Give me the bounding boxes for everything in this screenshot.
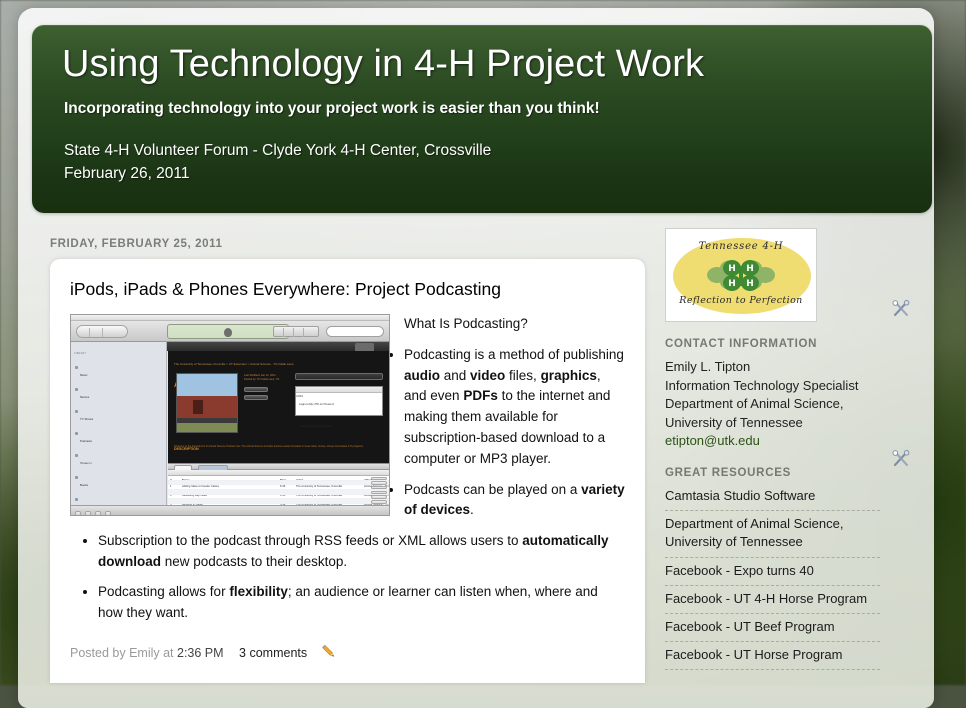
logo-top-text: Tennessee 4-H xyxy=(666,241,816,252)
itunes-sidebar-item[interactable]: Podcasts xyxy=(71,431,166,453)
post-title[interactable]: iPods, iPads & Phones Everywhere: Projec… xyxy=(70,279,625,300)
itunes-get-button[interactable] xyxy=(371,481,387,485)
itunes-sort-select[interactable] xyxy=(295,373,383,380)
blog-header: Using Technology in 4-H Project Work Inc… xyxy=(32,25,932,213)
itunes-search-input[interactable] xyxy=(326,326,384,337)
itunes-sidebar-item[interactable]: TV Shows xyxy=(71,409,166,431)
list-item: Subscription to the podcast through RSS … xyxy=(98,531,625,573)
text-run: new podcasts to their desktop. xyxy=(161,554,347,569)
resource-link[interactable]: Facebook - Expo turns 40 xyxy=(665,558,880,586)
svg-text:H: H xyxy=(746,279,754,289)
text-run: Podcasts can be played on a xyxy=(404,482,581,497)
resource-link[interactable]: Department of Animal Science, University… xyxy=(665,511,880,557)
contact-role: Information Technology Specialist xyxy=(665,377,880,396)
itunes-screenshot-render: FileEditViewControlsStoreAdvancedHelpiTu… xyxy=(70,314,390,516)
itunes-get-button[interactable] xyxy=(371,477,387,481)
contact-widget-title: CONTACT INFORMATION xyxy=(665,338,880,350)
itunes-source-sidebar: LIBRARYMusicMoviesTV ShowsPodcastsiTunes… xyxy=(71,342,167,505)
four-leaf-clover-icon: HH HH xyxy=(705,252,777,298)
bold-run: graphics xyxy=(541,368,597,383)
text-run: Podcasting is a method of publishing xyxy=(404,347,624,362)
contact-organization: University of Tennessee xyxy=(665,414,880,433)
itunes-meta-line-2: Posted by: TN Cattle Lane, TN xyxy=(244,378,279,382)
bold-run: flexibility xyxy=(229,584,288,599)
text-run: . xyxy=(470,502,474,517)
itunes-view-switcher xyxy=(273,326,319,337)
itunes-secondary-button[interactable] xyxy=(244,395,268,400)
post-body: FileEditViewControlsStoreAdvancedHelpiTu… xyxy=(70,314,625,683)
wrench-screwdriver-icon[interactable] xyxy=(890,448,912,470)
blog-subheading: State 4-H Volunteer Forum - Clyde York 4… xyxy=(64,139,844,185)
itunes-toolbar xyxy=(71,321,389,342)
itunes-track-list: #NameTimeArtistAlbumPrice 1Adding Value … xyxy=(168,470,389,505)
text-run: Subscription to the podcast through RSS … xyxy=(98,533,522,548)
svg-text:H: H xyxy=(728,264,736,274)
itunes-subscribe-button[interactable] xyxy=(244,387,268,392)
contact-name: Emily L. Tipton xyxy=(665,358,880,377)
post-comments-link[interactable]: 3 comments xyxy=(239,646,307,660)
itunes-sidebar-item[interactable]: Books xyxy=(71,475,166,497)
itunes-screenshot-image[interactable]: FileEditViewControlsStoreAdvancedHelpiTu… xyxy=(70,314,390,516)
post-footer: Posted by Emily at 2:36 PM 3 comments xyxy=(70,632,625,683)
logo-bottom-text: Reflection to Perfection xyxy=(666,295,816,306)
resource-link[interactable]: Camtasia Studio Software xyxy=(665,487,880,511)
itunes-content-pane: The University of Tennessee, Knoxville >… xyxy=(168,351,389,505)
blog-post: iPods, iPads & Phones Everywhere: Projec… xyxy=(50,259,645,683)
itunes-description-title: DESCRIPTION xyxy=(174,439,199,460)
text-run: files, xyxy=(505,368,540,383)
contact-email-link[interactable]: etipton@utk.edu xyxy=(665,433,760,448)
resource-link[interactable]: Facebook - UT Beef Program xyxy=(665,614,880,642)
itunes-links-panel: LINKS Login to My UTK on iTunes U Animal… xyxy=(295,386,383,416)
itunes-status-display xyxy=(167,324,289,339)
resource-link[interactable]: Facebook - UT Horse Program xyxy=(665,642,880,670)
itunes-get-button[interactable] xyxy=(371,500,387,504)
bold-run: audio xyxy=(404,368,440,383)
bold-run: video xyxy=(470,368,505,383)
svg-text:H: H xyxy=(728,279,736,289)
resource-link[interactable]: Facebook - UT 4-H Horse Program xyxy=(665,586,880,614)
post-timestamp[interactable]: 2:36 PM xyxy=(177,646,224,660)
itunes-links-item[interactable]: Animal Science Department xyxy=(296,415,382,437)
itunes-sidebar-item[interactable]: Movies xyxy=(71,387,166,409)
text-run: Podcasting allows for xyxy=(98,584,229,599)
itunes-sidebar-section: LIBRARY xyxy=(71,342,166,365)
sidebar: Tennessee 4-H HH HH Reflection to Perfec… xyxy=(665,228,880,670)
itunes-transport-buttons xyxy=(76,325,128,338)
itunes-meta: Last Modified: Jan 12, 2011 Posted by: T… xyxy=(244,374,279,381)
text-run: and xyxy=(440,368,470,383)
resources-list: Camtasia Studio SoftwareDepartment of An… xyxy=(665,487,880,670)
itunes-status-bar xyxy=(71,505,389,515)
itunes-sidebar-item[interactable]: iTunes U xyxy=(71,453,166,475)
contact-department: Department of Animal Science, xyxy=(665,395,880,414)
contact-widget-body: Emily L. Tipton Information Technology S… xyxy=(665,358,880,451)
post-main-bullets: Subscription to the podcast through RSS … xyxy=(70,531,625,623)
apple-logo-icon xyxy=(224,328,232,337)
itunes-tab-bar[interactable]: PublicTN Cattle Lane xyxy=(168,463,389,470)
itunes-get-button[interactable] xyxy=(371,495,387,499)
tennessee-4h-logo[interactable]: Tennessee 4-H HH HH Reflection to Perfec… xyxy=(665,228,817,322)
pencil-icon[interactable] xyxy=(320,643,337,667)
itunes-sidebar-item[interactable]: Music xyxy=(71,365,166,387)
blog-description: Incorporating technology into your proje… xyxy=(64,100,844,118)
itunes-get-button[interactable] xyxy=(371,486,387,490)
main-content: FRIDAY, FEBRUARY 25, 2011 iPods, iPads &… xyxy=(50,238,645,683)
itunes-links-item[interactable]: Login to My UTK on iTunes U xyxy=(296,393,382,415)
bold-run: PDFs xyxy=(463,388,498,403)
post-author-label: Posted by Emily at xyxy=(70,646,174,660)
blog-subheading-line-1: State 4-H Volunteer Forum - Clyde York 4… xyxy=(64,139,844,162)
itunes-description-text: Welcome to the Department of Animal Scie… xyxy=(174,445,383,448)
blog-title[interactable]: Using Technology in 4-H Project Work xyxy=(62,43,704,86)
itunes-get-button[interactable] xyxy=(371,491,387,495)
post-date-header: FRIDAY, FEBRUARY 25, 2011 xyxy=(50,238,645,259)
itunes-breadcrumb: The University of Tennessee, Knoxville >… xyxy=(168,351,389,375)
resources-widget-title: GREAT RESOURCES xyxy=(665,467,880,479)
itunes-store-navbar: MusicMoviesTV ShowsApp StorePodcastsAudi… xyxy=(167,342,389,351)
blog-subheading-line-2: February 26, 2011 xyxy=(64,162,844,185)
wrench-screwdriver-icon[interactable] xyxy=(890,298,912,320)
svg-text:H: H xyxy=(746,264,754,274)
list-item: Podcasting allows for flexibility; an au… xyxy=(98,582,625,624)
course-artwork-barn-image xyxy=(176,373,238,433)
